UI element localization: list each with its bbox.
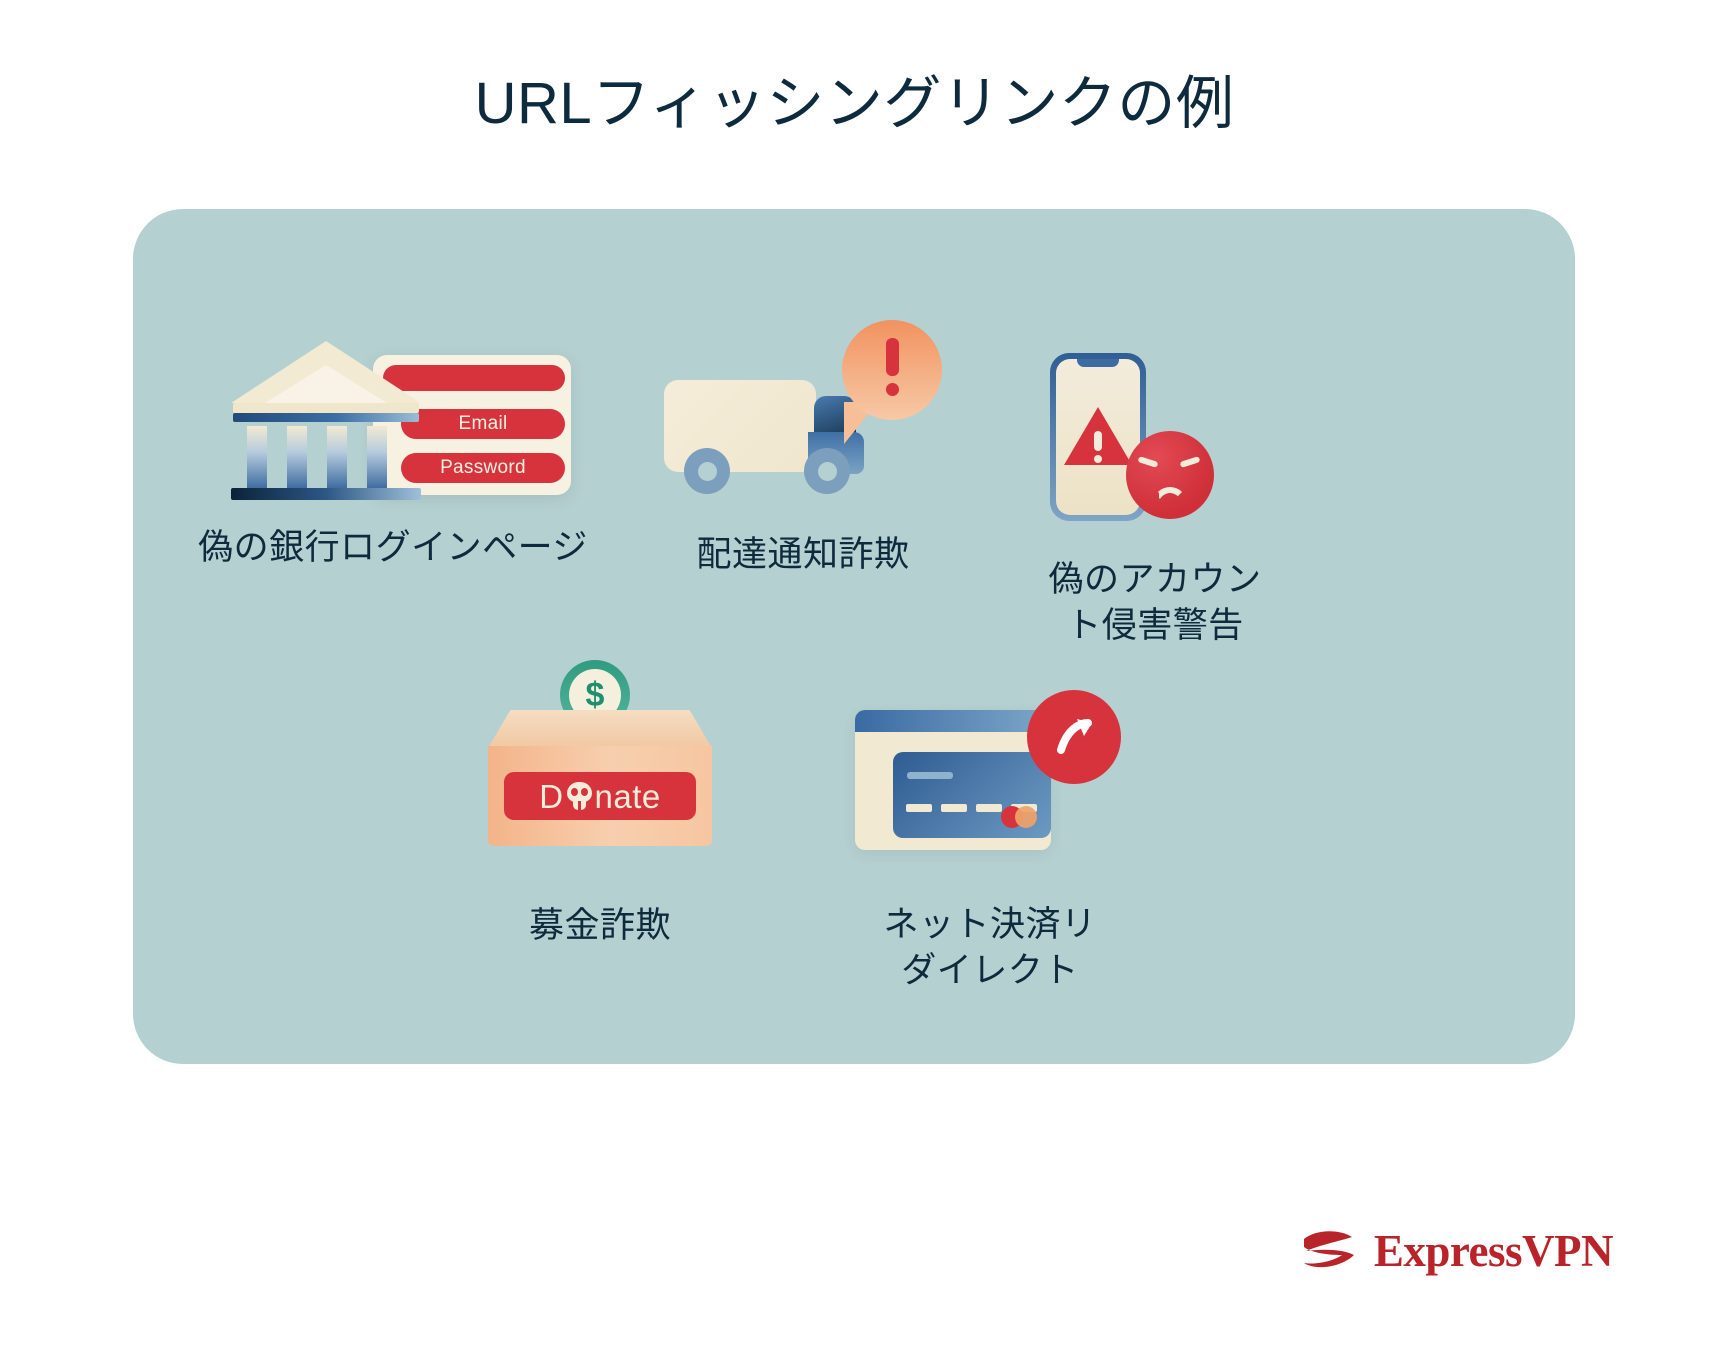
expressvpn-logo: ExpressVPN (1296, 1223, 1613, 1279)
example-caption: 配達通知詐欺 (696, 532, 909, 578)
warning-exclamation-bar (1094, 431, 1102, 451)
expressvpn-wordmark: ExpressVPN (1374, 1229, 1613, 1274)
exclamation-bar (886, 338, 899, 376)
credit-card (893, 752, 1051, 838)
example-caption: 募金詐欺 (529, 903, 671, 949)
donation-box-top (488, 710, 712, 748)
redirect-arrow-icon[interactable] (1027, 690, 1121, 784)
donation-box-skull-icon: $ D nate (480, 660, 720, 875)
browser-credit-card-redirect-icon (855, 690, 1125, 880)
bank-column (247, 426, 267, 488)
bank-entablature (233, 413, 419, 422)
bank-column (327, 426, 347, 488)
example-caption: 偽のアカウン ト侵害警告 (1048, 557, 1261, 649)
exclamation-icon (880, 338, 904, 402)
bank-lintel (233, 403, 419, 413)
phone-screen (1056, 359, 1140, 515)
credit-card-stripe (907, 772, 953, 779)
skull-jaw (573, 801, 586, 810)
phone-warning-sad-face-icon (1030, 345, 1280, 545)
bank-column (367, 426, 387, 488)
donate-banner[interactable]: D nate (504, 772, 696, 820)
example-delivery-notification-scam: 配達通知詐欺 (648, 320, 958, 578)
credit-card-number-group (976, 804, 1002, 812)
example-donation-scam: $ D nate 募金詐欺 (480, 660, 720, 949)
bank-column (287, 426, 307, 488)
skull-icon (567, 782, 592, 810)
example-fake-account-compromise-warning: 偽のアカウン ト侵害警告 (1030, 345, 1280, 649)
email-field[interactable]: Email (401, 409, 565, 439)
warning-exclamation (1094, 431, 1102, 463)
sad-face-mouth (1153, 487, 1187, 505)
bank-roof-highlight (265, 365, 387, 403)
infographic-page: URLフィッシングリンクの例 Email Password 偽の銀行ログイン (0, 0, 1709, 1355)
warning-exclamation-dot (1094, 455, 1102, 463)
page-title: URLフィッシングリンクの例 (0, 72, 1709, 136)
sad-face-eye (1138, 456, 1159, 468)
phone-notch (1077, 359, 1119, 367)
example-caption: ネット決済リ ダイレクト (883, 902, 1096, 994)
skull-eye (581, 788, 588, 796)
password-field[interactable]: Password (401, 453, 565, 483)
truck-wheel (684, 448, 730, 494)
donate-label-before: D (539, 780, 563, 813)
sad-face-eye (1180, 456, 1201, 468)
credit-card-number-group (941, 804, 967, 812)
expressvpn-logo-icon (1296, 1223, 1360, 1279)
example-caption: 偽の銀行ログインページ (198, 525, 588, 571)
browser-title-bar (855, 710, 1051, 732)
bank-login-form-icon: Email Password (213, 333, 573, 513)
example-online-payment-redirect: ネット決済リ ダイレクト (855, 690, 1125, 994)
card-logo-circle (1015, 806, 1037, 828)
sad-face-icon (1126, 431, 1214, 519)
truck-wheel (804, 448, 850, 494)
card-network-logo-icon (1001, 806, 1039, 828)
skull-eye (571, 788, 578, 796)
donate-label-after: nate (595, 780, 661, 813)
credit-card-number-group (906, 804, 932, 812)
bank-base (231, 488, 421, 500)
exclamation-dot (886, 383, 899, 396)
skull-head (567, 782, 592, 802)
example-fake-bank-login: Email Password 偽の銀行ログインページ (168, 333, 618, 571)
delivery-truck-alert-icon (648, 320, 958, 520)
bank-building-illustration (231, 341, 421, 501)
